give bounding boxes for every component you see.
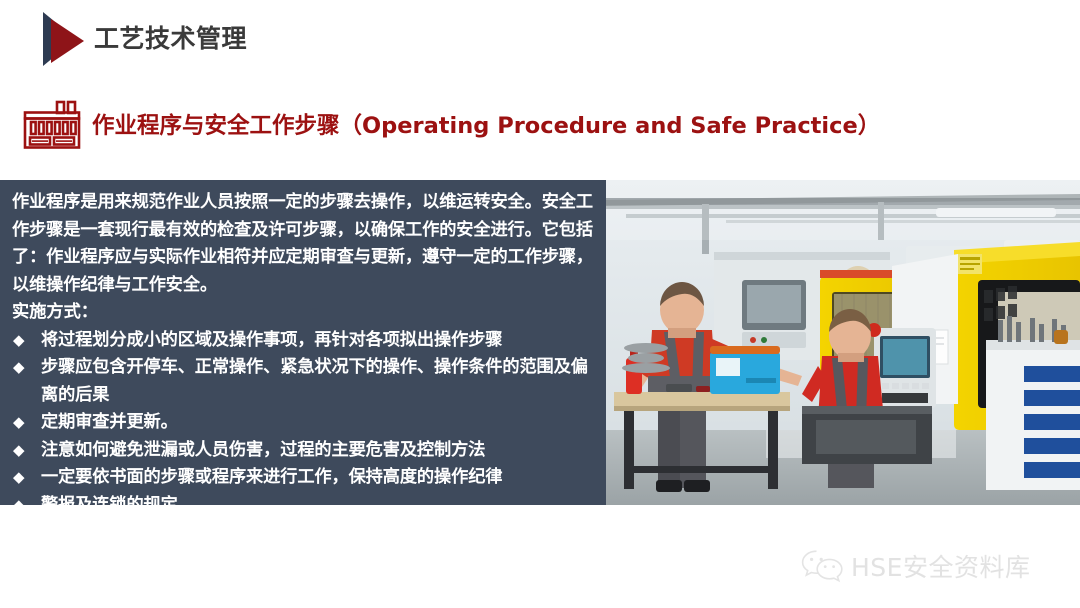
diamond-bullet-icon: ◆ xyxy=(13,464,24,492)
top-header: 工艺技术管理 xyxy=(0,0,1080,78)
bullet-list: ◆将过程划分成小的区域及操作事项，再针对各项拟出操作步骤◆步骤应包含开停车、正常… xyxy=(12,327,596,506)
diamond-bullet-icon: ◆ xyxy=(13,437,24,465)
sub-title: 作业程序与安全工作步骤（Operating Procedure and Safe… xyxy=(92,108,880,140)
bullet-text: 注意如何避免泄漏或人员伤害，过程的主要危害及控制方法 xyxy=(41,440,485,460)
watermark-text: HSE安全资料库 xyxy=(851,548,1030,584)
implementation-label: 实施方式： xyxy=(12,299,596,327)
diamond-bullet-icon: ◆ xyxy=(13,492,24,506)
intro-paragraph: 作业程序是用来规范作业人员按照一定的步骤去操作，以维运转安全。安全工作步骤是一套… xyxy=(12,189,596,299)
bullet-text: 一定要依书面的步骤或程序来进行工作，保持高度的操作纪律 xyxy=(41,467,502,487)
bullet-text: 定期审查并更新。 xyxy=(41,412,178,432)
bullet-item: ◆步骤应包含开停车、正常操作、紧急状况下的操作、操作条件的范围及偏离的后果 xyxy=(12,354,596,409)
bullet-item: ◆一定要依书面的步骤或程序来进行工作，保持高度的操作纪律 xyxy=(12,464,596,492)
content-panel: 作业程序是用来规范作业人员按照一定的步骤去操作，以维运转安全。安全工作步骤是一套… xyxy=(0,180,606,505)
sub-header: 作业程序与安全工作步骤（Operating Procedure and Safe… xyxy=(0,95,1080,157)
bullet-text: 将过程划分成小的区域及操作事项，再针对各项拟出操作步骤 xyxy=(41,330,502,350)
bullet-text: 步骤应包含开停车、正常操作、紧急状况下的操作、操作条件的范围及偏离的后果 xyxy=(41,357,588,405)
watermark: HSE安全资料库 xyxy=(800,543,1070,589)
bullet-item: ◆定期审查并更新。 xyxy=(12,409,596,437)
wechat-icon xyxy=(800,548,844,584)
bullet-item: ◆将过程划分成小的区域及操作事项，再针对各项拟出操作步骤 xyxy=(12,327,596,355)
diamond-bullet-icon: ◆ xyxy=(13,327,24,355)
diamond-bullet-icon: ◆ xyxy=(13,409,24,437)
bullet-item: ◆注意如何避免泄漏或人员伤害，过程的主要危害及控制方法 xyxy=(12,437,596,465)
page-title: 工艺技术管理 xyxy=(94,20,247,58)
triangle-play-icon xyxy=(40,10,90,68)
bullet-text: 警报及连锁的规定。 xyxy=(41,495,195,506)
bullet-item: ◆警报及连锁的规定。 xyxy=(12,492,596,506)
diamond-bullet-icon: ◆ xyxy=(13,354,24,382)
factory-icon xyxy=(21,99,83,151)
industrial-cnc-workshop-photo xyxy=(606,180,1080,505)
